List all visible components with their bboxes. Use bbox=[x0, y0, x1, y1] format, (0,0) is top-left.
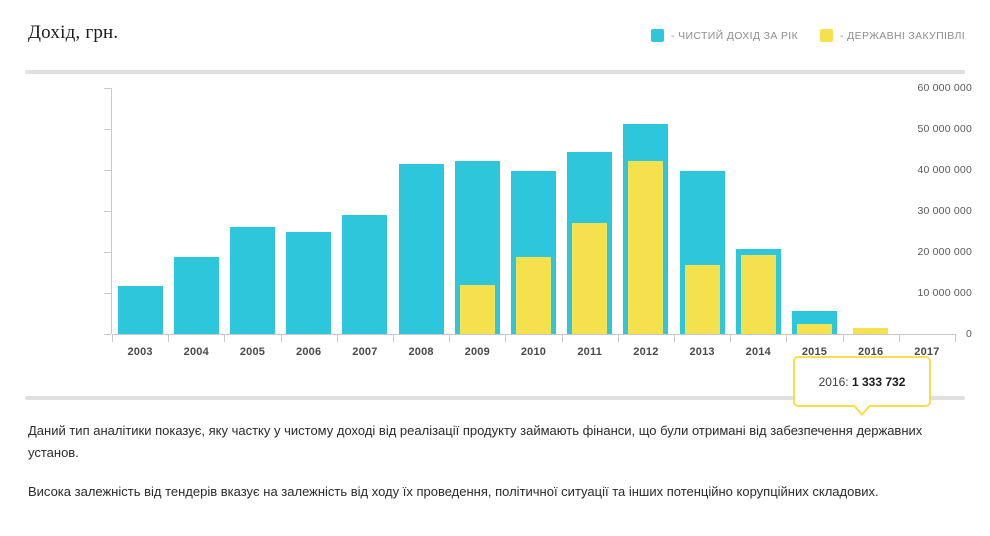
bar-group[interactable] bbox=[904, 88, 949, 334]
bar-net-income[interactable] bbox=[174, 257, 219, 334]
bar-state-procurement[interactable] bbox=[572, 223, 607, 334]
page-title: Дохід, грн. bbox=[28, 22, 118, 44]
legend-swatch-net-income bbox=[651, 29, 664, 42]
x-axis-tick-mark bbox=[393, 334, 394, 342]
plot-area bbox=[112, 88, 955, 334]
x-axis-label: 2012 bbox=[633, 346, 658, 358]
tooltip-year-prefix: 2016: bbox=[819, 375, 852, 389]
y-axis-tick-mark bbox=[104, 170, 111, 171]
legend-swatch-state-procurement bbox=[820, 29, 833, 42]
bar-group[interactable] bbox=[623, 88, 668, 334]
x-axis-tick-mark bbox=[449, 334, 450, 342]
x-axis-tick-mark bbox=[786, 334, 787, 342]
bar-net-income[interactable] bbox=[399, 164, 444, 334]
bar-state-procurement[interactable] bbox=[685, 265, 720, 334]
chart-page: Дохід, грн. - ЧИСТИЙ ДОХІД ЗА РІК - ДЕРЖ… bbox=[0, 0, 990, 536]
bar-group[interactable] bbox=[118, 88, 163, 334]
bar-group[interactable] bbox=[736, 88, 781, 334]
bar-state-procurement[interactable] bbox=[516, 257, 551, 334]
x-axis-label: 2008 bbox=[408, 346, 433, 358]
divider-top bbox=[25, 70, 965, 74]
x-axis-label: 2006 bbox=[296, 346, 321, 358]
bar-state-procurement[interactable] bbox=[460, 285, 495, 334]
bar-net-income[interactable] bbox=[286, 232, 331, 335]
x-axis-tick-mark bbox=[674, 334, 675, 342]
x-axis-tick-mark bbox=[281, 334, 282, 342]
bar-group[interactable] bbox=[286, 88, 331, 334]
x-axis-label: 2003 bbox=[127, 346, 152, 358]
x-axis-tick-mark bbox=[112, 334, 113, 342]
bar-group[interactable] bbox=[455, 88, 500, 334]
y-axis-tick-mark bbox=[104, 334, 111, 335]
chart-legend: - ЧИСТИЙ ДОХІД ЗА РІК - ДЕРЖАВНІ ЗАКУПІВ… bbox=[651, 29, 965, 42]
x-axis-tick-mark bbox=[562, 334, 563, 342]
bar-group[interactable] bbox=[342, 88, 387, 334]
bar-group[interactable] bbox=[680, 88, 725, 334]
x-axis-label: 2014 bbox=[746, 346, 771, 358]
x-axis-tick-mark bbox=[955, 334, 956, 342]
description-paragraph-2: Висока залежність від тендерів вказує на… bbox=[28, 481, 950, 503]
x-axis-tick-mark bbox=[505, 334, 506, 342]
bar-group[interactable] bbox=[511, 88, 556, 334]
bar-state-procurement[interactable] bbox=[853, 328, 888, 334]
bar-chart: 010 000 00020 000 00030 000 00040 000 00… bbox=[0, 82, 990, 360]
x-axis-tick-mark bbox=[899, 334, 900, 342]
x-axis-tick-mark bbox=[224, 334, 225, 342]
y-axis-tick-mark bbox=[104, 88, 111, 89]
x-axis-label: 2013 bbox=[689, 346, 714, 358]
legend-item-net-income[interactable]: - ЧИСТИЙ ДОХІД ЗА РІК bbox=[651, 29, 798, 42]
x-axis-label: 2007 bbox=[352, 346, 377, 358]
tooltip[interactable]: 2016: 1 333 732 bbox=[793, 356, 931, 407]
x-axis-tick-mark bbox=[730, 334, 731, 342]
tooltip-value: 1 333 732 bbox=[852, 375, 905, 389]
x-axis-label: 2009 bbox=[465, 346, 490, 358]
bar-state-procurement[interactable] bbox=[741, 255, 776, 334]
x-axis-tick-mark bbox=[168, 334, 169, 342]
description-paragraph-1: Даний тип аналітики показує, яку частку … bbox=[28, 420, 950, 464]
x-axis-tick-mark bbox=[337, 334, 338, 342]
legend-label-state-procurement: - ДЕРЖАВНІ ЗАКУПІВЛІ bbox=[840, 30, 965, 42]
bar-group[interactable] bbox=[567, 88, 612, 334]
x-axis-tick-mark bbox=[843, 334, 844, 342]
tooltip-arrow-inner-icon bbox=[854, 404, 870, 413]
x-axis-line bbox=[112, 334, 955, 335]
x-axis-tick-mark bbox=[618, 334, 619, 342]
bar-group[interactable] bbox=[848, 88, 893, 334]
y-axis-tick-mark bbox=[104, 252, 111, 253]
y-axis-tick-label: 0 bbox=[966, 328, 972, 340]
x-axis-label: 2004 bbox=[184, 346, 209, 358]
y-axis-tick-mark bbox=[104, 211, 111, 212]
y-axis-tick-mark bbox=[104, 293, 111, 294]
bar-state-procurement[interactable] bbox=[628, 161, 663, 334]
bar-net-income[interactable] bbox=[230, 227, 275, 334]
bar-group[interactable] bbox=[174, 88, 219, 334]
bar-net-income[interactable] bbox=[118, 286, 163, 334]
x-axis-label: 2010 bbox=[521, 346, 546, 358]
tooltip-text: 2016: 1 333 732 bbox=[819, 375, 906, 389]
y-axis-tick-mark bbox=[104, 129, 111, 130]
x-axis-label: 2011 bbox=[577, 346, 602, 358]
legend-item-state-procurement[interactable]: - ДЕРЖАВНІ ЗАКУПІВЛІ bbox=[820, 29, 965, 42]
x-axis-label: 2005 bbox=[240, 346, 265, 358]
bar-group[interactable] bbox=[399, 88, 444, 334]
y-axis bbox=[0, 82, 120, 326]
bar-group[interactable] bbox=[230, 88, 275, 334]
bar-net-income[interactable] bbox=[342, 215, 387, 334]
bar-group[interactable] bbox=[792, 88, 837, 334]
bar-state-procurement[interactable] bbox=[797, 324, 832, 334]
legend-label-net-income: - ЧИСТИЙ ДОХІД ЗА РІК bbox=[671, 30, 798, 42]
